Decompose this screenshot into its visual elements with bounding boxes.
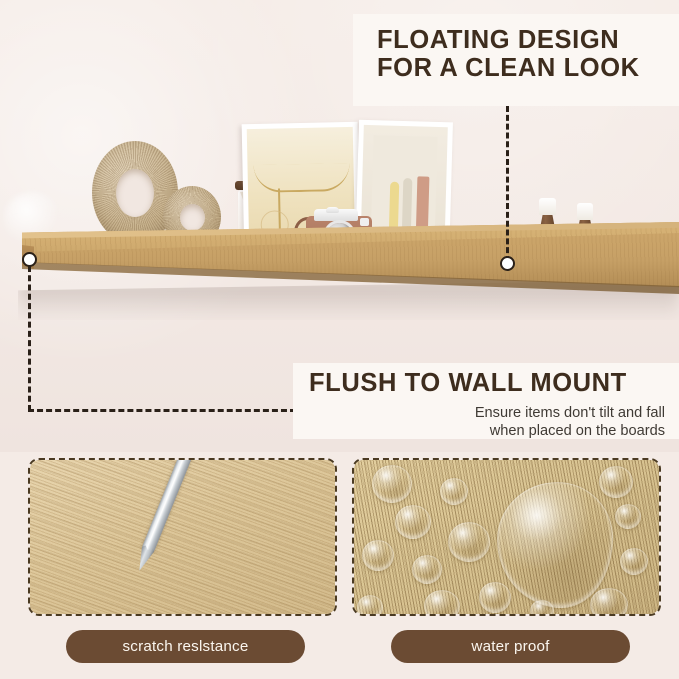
floating-shelf: [0, 222, 679, 342]
water-droplet: [620, 548, 648, 575]
water-droplet: [372, 465, 412, 503]
water-droplet: [479, 582, 511, 613]
feature-label-water-proof: water proof: [391, 630, 630, 663]
product-feature-image: FLOATING DESIGN FOR A CLEAN LOOK FLUSH T…: [0, 0, 679, 679]
candle-tall: [539, 198, 556, 215]
subtext-line-1: Ensure items don't tilt and fall: [309, 404, 665, 422]
feature-panel-scratch-resistance: [28, 458, 337, 616]
water-droplet: [615, 504, 641, 529]
callout-line-left-horizontal: [28, 409, 296, 412]
feature-panel-water-proof: [352, 458, 661, 616]
water-droplet: [599, 466, 633, 498]
callout-line-left-vertical: [28, 266, 31, 411]
headline-flush-to-wall-mount: FLUSH TO WALL MOUNT: [309, 369, 665, 397]
callout-panel-top: FLOATING DESIGN FOR A CLEAN LOOK: [353, 14, 679, 106]
wood-grain-texture: [30, 460, 335, 614]
callout-line-top: [506, 106, 509, 262]
candle-short: [577, 203, 593, 220]
feature-label-text: water proof: [471, 638, 549, 655]
water-droplet: [412, 555, 442, 584]
water-droplet: [424, 590, 460, 616]
subtext-flush-to-wall-mount: Ensure items don't tilt and fall when pl…: [309, 404, 665, 440]
water-droplet: [530, 600, 554, 616]
water-droplet: [357, 595, 383, 616]
callout-marker-left: [22, 252, 37, 267]
water-droplet: [362, 540, 394, 571]
callout-marker-top: [500, 256, 515, 271]
subtext-line-2: when placed on the boards: [309, 422, 665, 440]
headline-line-1: FLOATING DESIGN: [377, 26, 669, 54]
feature-label-text: scratch reslstance: [123, 638, 249, 655]
callout-panel-bottom: FLUSH TO WALL MOUNT Ensure items don't t…: [293, 363, 679, 439]
water-droplet: [590, 588, 628, 616]
headline-line-2: FOR A CLEAN LOOK: [377, 54, 669, 82]
water-droplet: [395, 505, 431, 539]
water-droplet: [440, 478, 468, 505]
feature-label-scratch-resistance: scratch reslstance: [66, 630, 305, 663]
headline-floating-design: FLOATING DESIGN FOR A CLEAN LOOK: [377, 26, 669, 82]
water-droplet: [448, 522, 490, 562]
